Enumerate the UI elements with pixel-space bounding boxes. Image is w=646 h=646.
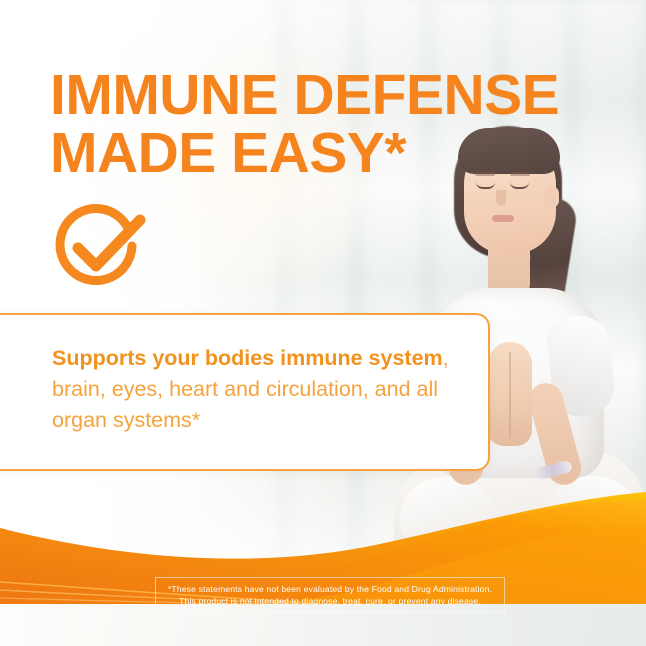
disclaimer-box: *These statements have not been evaluate… xyxy=(155,577,505,613)
promo-banner: IMMUNE DEFENSE MADE EASY* Supports your … xyxy=(0,0,646,646)
ear xyxy=(544,186,559,208)
disclaimer-line-1: *These statements have not been evaluate… xyxy=(168,584,492,594)
claim-card: Supports your bodies immune system, brai… xyxy=(0,313,490,471)
headline-line-1: IMMUNE DEFENSE xyxy=(50,63,559,127)
claim-text: Supports your bodies immune system, brai… xyxy=(52,343,458,436)
hand-center-line xyxy=(509,352,511,438)
headline-line-2: MADE EASY* xyxy=(50,124,620,182)
check-circle-icon xyxy=(52,202,148,292)
disclaimer-line-2: This product is not intended to diagnose… xyxy=(179,596,481,606)
orange-wave-graphic xyxy=(0,486,646,646)
headline: IMMUNE DEFENSE MADE EASY* xyxy=(50,66,620,182)
nose xyxy=(496,190,506,206)
mouth xyxy=(492,215,514,222)
claim-text-bold: Supports your bodies immune system xyxy=(52,346,443,370)
